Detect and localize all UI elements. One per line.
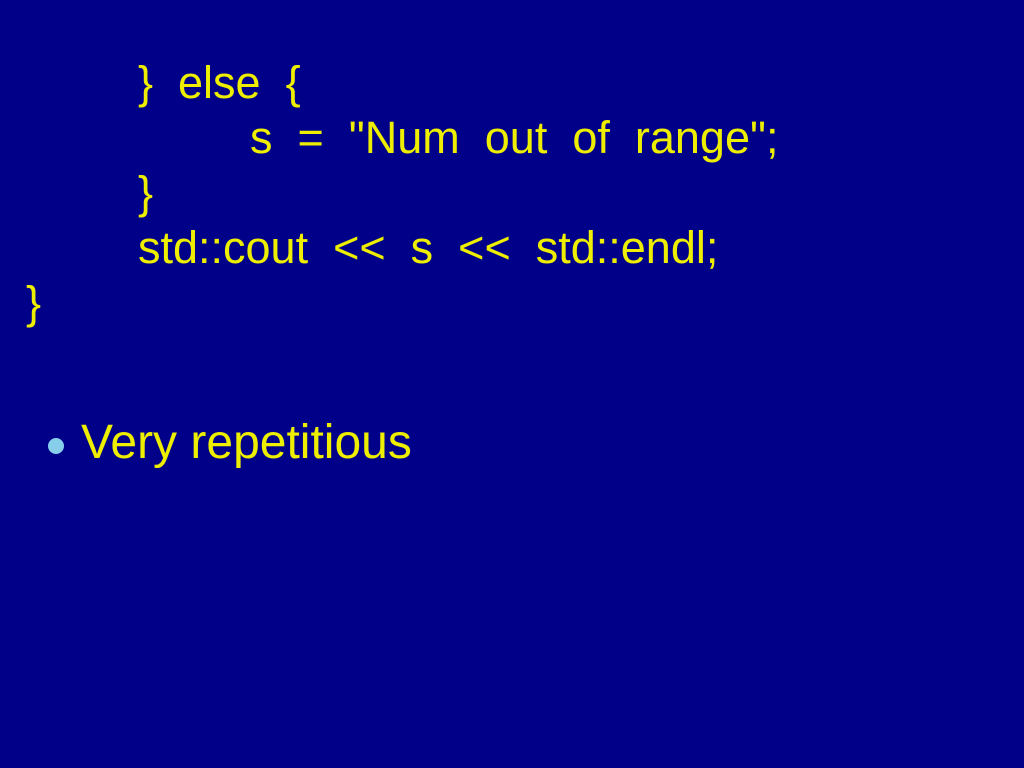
slide-canvas: } else { s = "Num out of range"; } std::… bbox=[0, 0, 1024, 768]
code-line-text: } bbox=[26, 277, 41, 328]
code-line: } bbox=[0, 275, 1024, 330]
code-line: std::cout << s << std::endl; bbox=[0, 220, 1024, 275]
list-item: Very repetitious bbox=[0, 412, 1024, 474]
code-line: } else { bbox=[0, 55, 1024, 110]
code-line-text: std::cout << s << std::endl; bbox=[138, 222, 718, 273]
list-item-label: Very repetitious bbox=[81, 412, 412, 474]
bullet-dot-icon bbox=[48, 438, 64, 454]
code-line: s = "Num out of range"; bbox=[0, 110, 1024, 165]
code-block: } else { s = "Num out of range"; } std::… bbox=[0, 55, 1024, 330]
code-line: } bbox=[0, 165, 1024, 220]
code-line-text: } else { bbox=[138, 57, 301, 108]
code-line-text: s = "Num out of range"; bbox=[250, 112, 778, 163]
code-line-text: } bbox=[138, 167, 153, 218]
bullet-list: Very repetitious bbox=[0, 412, 1024, 474]
